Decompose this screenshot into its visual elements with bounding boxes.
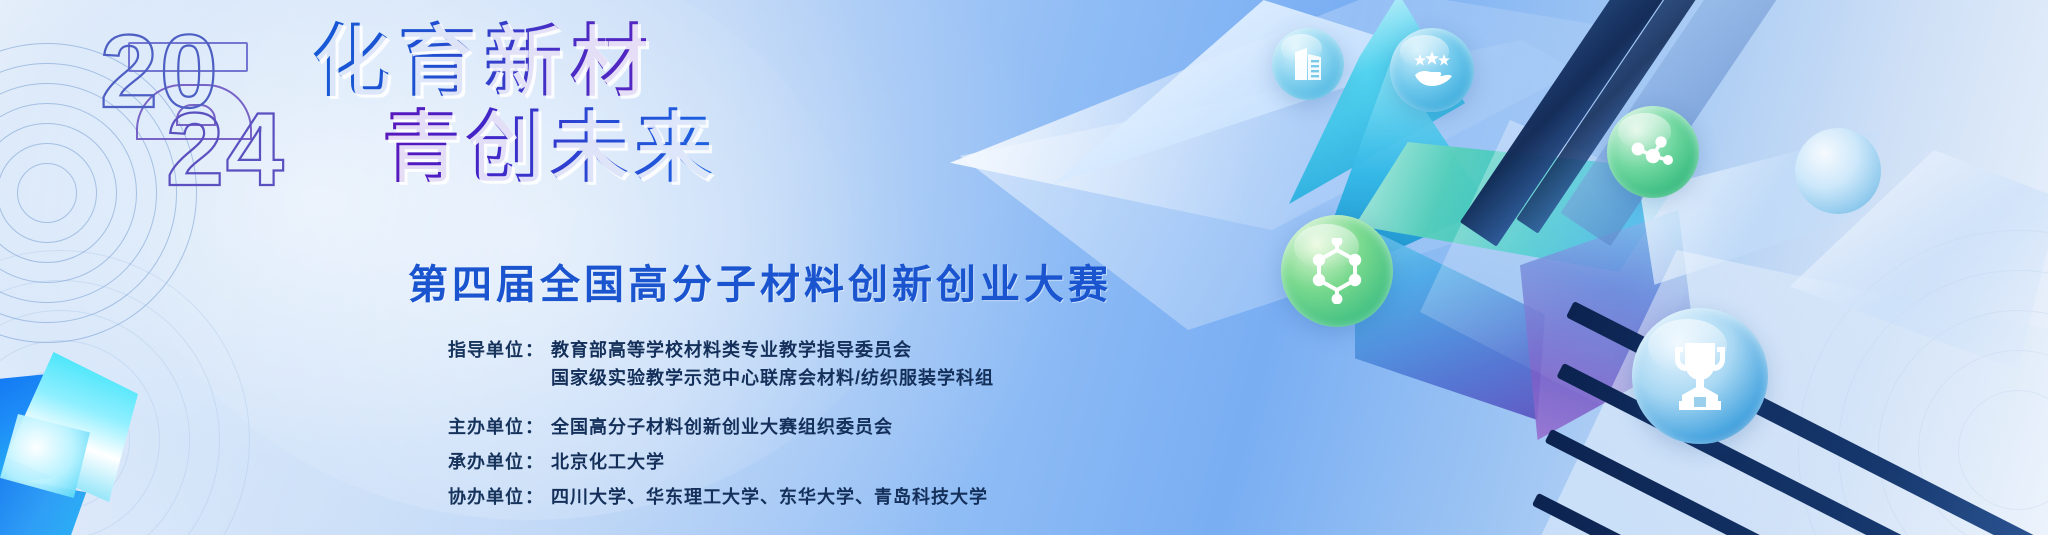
org-row-organizer: 承办单位 ： 北京化工大学 (398, 448, 994, 474)
org-label: 协办单位 (398, 483, 524, 509)
subtitle: 第四届全国高分子材料创新创业大赛 (408, 252, 1112, 310)
cyan-cube-bottom-left (0, 318, 158, 533)
title-line-2: 青创未来 (382, 104, 718, 190)
org-row-co-organizer: 协办单位 ： 四川大学、华东理工大学、东华大学、青岛科技大学 (398, 483, 994, 509)
year-badge: 20 24 (92, 18, 342, 208)
org-value: 国家级实验教学示范中心联席会材料/纺织服装学科组 (551, 364, 994, 390)
title-line-1: 化育新材 (312, 18, 718, 104)
org-label: 承办单位 (398, 448, 524, 474)
document-building-icon (1272, 28, 1344, 100)
org-colon: ： (524, 448, 551, 474)
hand-stars-quality-icon (1390, 28, 1474, 112)
org-value: 四川大学、华东理工大学、东华大学、青岛科技大学 (551, 483, 988, 509)
glass-sphere-bubble (1795, 128, 1881, 214)
org-spacing (398, 399, 994, 413)
org-row-guidance: 指导单位 ： 教育部高等学校材料类专业教学指导委员会 (398, 336, 994, 362)
org-colon: ： (524, 336, 551, 362)
benzene-hexagon-molecule-icon (1281, 215, 1393, 327)
year-bottom: 24 (166, 104, 286, 196)
org-value: 北京化工大学 (551, 448, 665, 474)
main-title: 化育新材 青创未来 (312, 18, 718, 190)
org-label: 主办单位 (398, 413, 524, 439)
org-row-guidance-second: ： 国家级实验教学示范中心联席会材料/纺织服装学科组 (398, 364, 994, 390)
org-value: 全国高分子材料创新创业大赛组织委员会 (551, 413, 893, 439)
trophy-icon (1632, 308, 1768, 444)
org-label: 指导单位 (398, 336, 524, 362)
competition-banner: 20 24 化育新材 青创未来 第四届全国高分子材料创新创业大赛 指导单位 ： … (0, 0, 2048, 535)
org-value: 教育部高等学校材料类专业教学指导委员会 (551, 336, 912, 362)
org-colon: ： (524, 413, 551, 439)
org-colon: ： (524, 483, 551, 509)
org-row-host: 主办单位 ： 全国高分子材料创新创业大赛组织委员会 (398, 413, 994, 439)
molecule-node-icon (1607, 106, 1699, 198)
organizations-block: 指导单位 ： 教育部高等学校材料类专业教学指导委员会 ： 国家级实验教学示范中心… (398, 336, 994, 518)
